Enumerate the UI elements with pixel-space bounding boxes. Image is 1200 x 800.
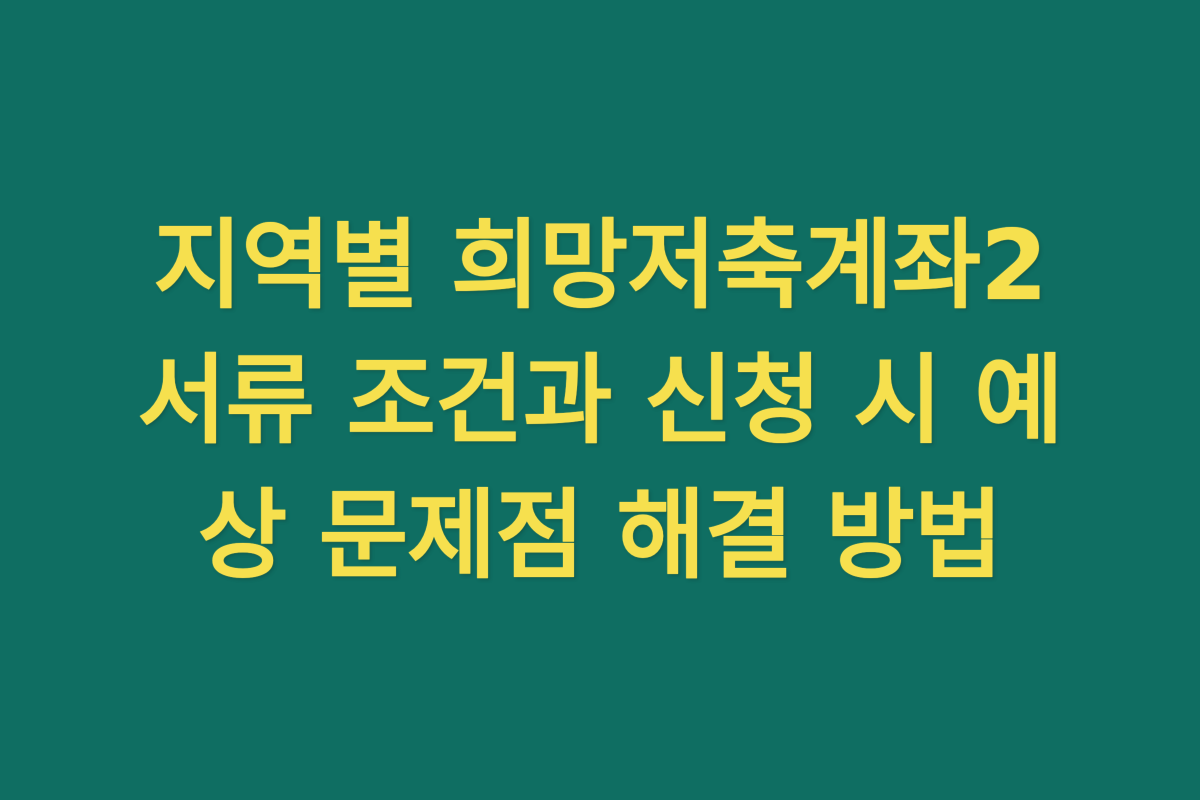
title-line-2: 서류 조건과 신청 시 예: [137, 333, 1062, 468]
thumbnail-card: 지역별 희망저축계좌2 서류 조건과 신청 시 예 상 문제점 해결 방법: [0, 0, 1200, 800]
title-line-3: 상 문제점 해결 방법: [198, 468, 1002, 603]
title-line-1: 지역별 희망저축계좌2: [153, 198, 1046, 333]
page-title: 지역별 희망저축계좌2 서류 조건과 신청 시 예 상 문제점 해결 방법: [100, 198, 1100, 603]
